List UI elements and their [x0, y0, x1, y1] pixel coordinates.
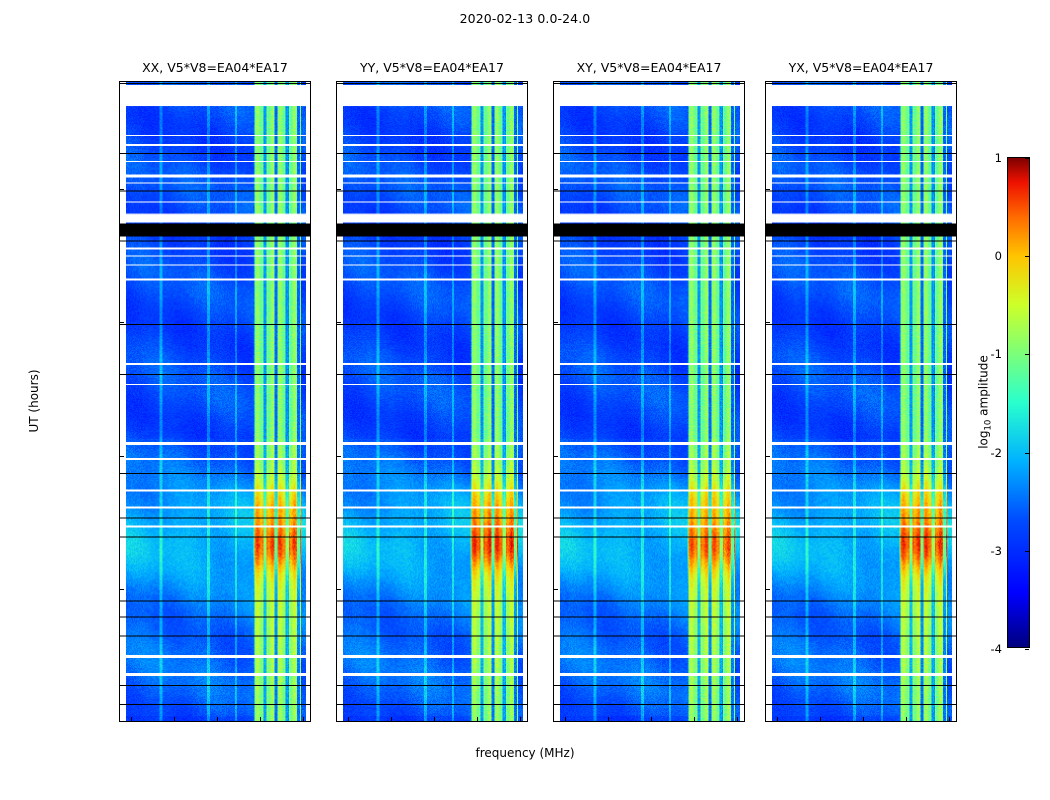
y-tick-mark — [766, 322, 770, 323]
x-tick-mark — [863, 717, 864, 721]
x-tick-mark — [694, 717, 695, 721]
colorbar[interactable]: 10-1-2-3-4 — [1007, 157, 1030, 648]
colorbar-tick-mark — [1025, 158, 1029, 159]
colorbar-label-subscript: 10 — [984, 420, 994, 431]
panel-yy: YY, V5*V8=EA04*EA17 05101520320335350365… — [336, 81, 528, 722]
panel-xy-title: XY, V5*V8=EA04*EA17 — [577, 60, 722, 75]
panel-yx-title: YX, V5*V8=EA04*EA17 — [789, 60, 934, 75]
x-tick-mark — [434, 717, 435, 721]
y-tick-mark — [337, 189, 341, 190]
y-tick-mark — [554, 189, 558, 190]
panel-xy-axes[interactable]: 05101520320335350365380 — [553, 81, 745, 722]
x-tick-mark — [820, 717, 821, 721]
waterfall-image — [120, 82, 310, 721]
x-tick-mark — [303, 717, 304, 721]
x-tick-mark — [391, 717, 392, 721]
y-tick-mark — [337, 456, 341, 457]
y-tick-mark — [766, 589, 770, 590]
colorbar-tick-label: -4 — [991, 642, 1002, 656]
x-tick-mark — [777, 717, 778, 721]
colorbar-tick-mark — [1025, 453, 1029, 454]
x-tick-mark — [906, 717, 907, 721]
panel-yy-axes[interactable]: 05101520320335350365380 — [336, 81, 528, 722]
waterfall-image — [337, 82, 527, 721]
x-tick-mark — [131, 717, 132, 721]
y-axis-label: UT (hours) — [27, 369, 41, 432]
panel-xx-axes[interactable]: 05101520320335350365380 — [119, 81, 311, 722]
x-tick-mark — [477, 717, 478, 721]
colorbar-label-tail: amplitude — [976, 355, 990, 419]
colorbar-tick-label: 0 — [995, 249, 1002, 263]
x-tick-mark — [651, 717, 652, 721]
y-tick-mark — [554, 589, 558, 590]
x-axis-label: frequency (MHz) — [0, 746, 1050, 760]
panel-xx-title: XX, V5*V8=EA04*EA17 — [142, 60, 288, 75]
panel-yx-axes[interactable]: 05101520320335350365380 — [765, 81, 957, 722]
y-tick-mark — [554, 456, 558, 457]
colorbar-label-text: log — [976, 430, 990, 448]
colorbar-tick-label: -3 — [991, 544, 1002, 558]
x-tick-mark — [174, 717, 175, 721]
y-tick-mark — [120, 456, 124, 457]
x-tick-mark — [949, 717, 950, 721]
x-tick-mark — [737, 717, 738, 721]
colorbar-tick-mark — [1025, 256, 1029, 257]
colorbar-label: log10 amplitude — [976, 355, 993, 449]
y-tick-mark — [120, 189, 124, 190]
x-tick-mark — [608, 717, 609, 721]
waterfall-image — [766, 82, 956, 721]
figure-canvas: 2020-02-13 0.0-24.0 XX, V5*V8=EA04*EA17 … — [0, 0, 1050, 800]
x-tick-mark — [217, 717, 218, 721]
x-tick-mark — [348, 717, 349, 721]
y-tick-mark — [337, 589, 341, 590]
colorbar-tick-mark — [1025, 551, 1029, 552]
panel-yx: YX, V5*V8=EA04*EA17 05101520320335350365… — [765, 81, 957, 722]
panel-xx: XX, V5*V8=EA04*EA17 05101520320335350365… — [119, 81, 311, 722]
colorbar-tick-mark — [1025, 354, 1029, 355]
colorbar-tick-mark — [1025, 649, 1029, 650]
x-tick-mark — [565, 717, 566, 721]
x-tick-mark — [260, 717, 261, 721]
y-tick-mark — [337, 322, 341, 323]
panel-yy-title: YY, V5*V8=EA04*EA17 — [360, 60, 504, 75]
y-tick-mark — [120, 322, 124, 323]
panel-xy: XY, V5*V8=EA04*EA17 05101520320335350365… — [553, 81, 745, 722]
y-tick-mark — [120, 589, 124, 590]
y-tick-mark — [554, 322, 558, 323]
x-tick-mark — [520, 717, 521, 721]
y-tick-mark — [766, 189, 770, 190]
figure-suptitle: 2020-02-13 0.0-24.0 — [0, 11, 1050, 26]
waterfall-image — [554, 82, 744, 721]
colorbar-tick-label: 1 — [995, 151, 1002, 165]
y-tick-mark — [766, 456, 770, 457]
